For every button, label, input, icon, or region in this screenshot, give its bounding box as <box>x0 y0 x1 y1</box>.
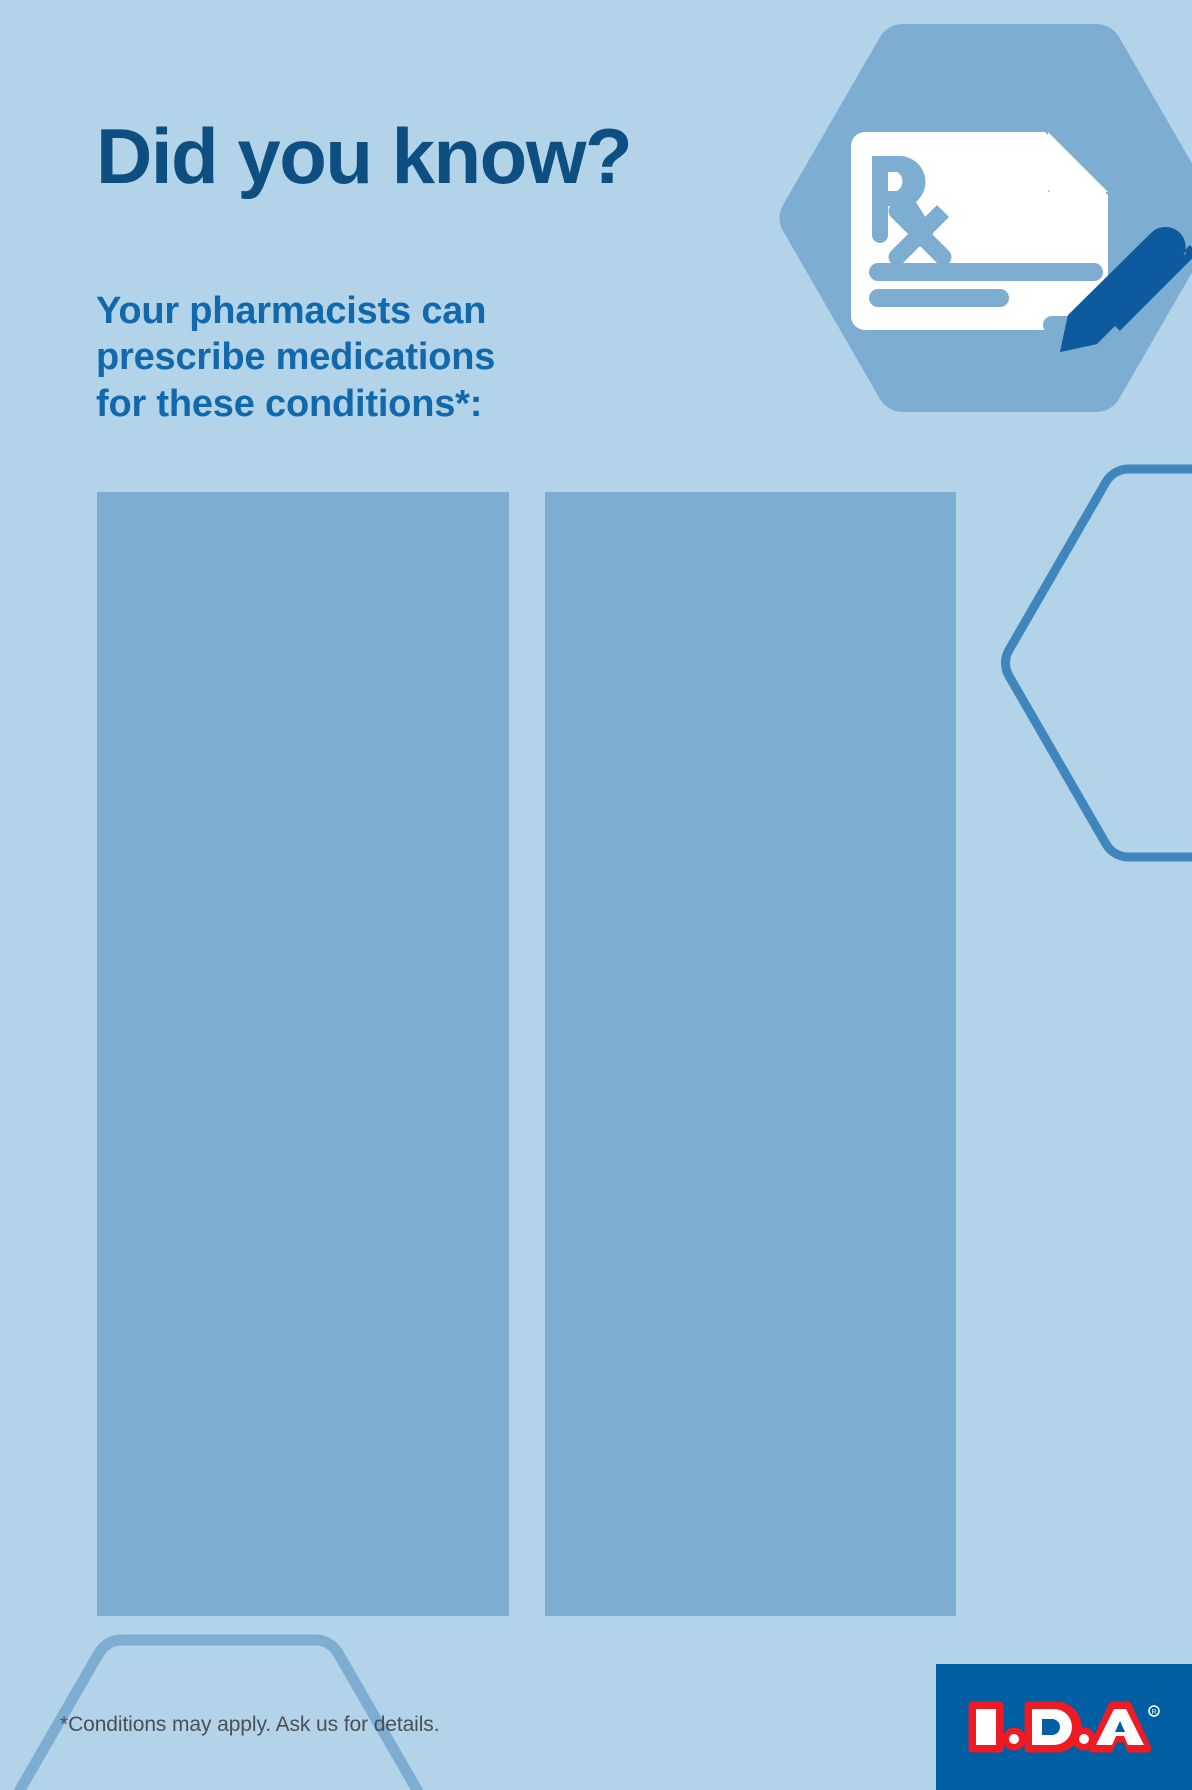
hexagon-solid-icon <box>780 24 1192 412</box>
subheadline-line-2: prescribe medications <box>96 334 656 380</box>
rx-letter-x <box>889 203 952 266</box>
registered-trademark-icon: R <box>1149 1706 1159 1716</box>
conditions-panel-right <box>545 492 956 1616</box>
footnote-disclaimer: *Conditions may apply. Ask us for detail… <box>60 1713 439 1737</box>
pencil-tip <box>1060 315 1097 352</box>
pencil-outline <box>1117 248 1192 328</box>
ida-logo-block: R <box>936 1664 1192 1790</box>
subheadline: Your pharmacists can prescribe medicatio… <box>96 288 656 427</box>
pencil-icon <box>1060 227 1186 352</box>
rx-rule-long <box>869 263 1103 281</box>
page-title: Did you know? <box>96 118 631 194</box>
hexagon-outline-icon <box>1006 469 1192 857</box>
subheadline-line-3: for these conditions*: <box>96 381 656 427</box>
ida-logo-icon: R <box>964 1695 1164 1759</box>
rx-letter-r <box>872 156 933 243</box>
poster-canvas: Did you know? Your pharmacists can presc… <box>0 0 1192 1790</box>
rx-rule-short <box>869 289 1009 307</box>
rx-paper-shape <box>851 132 1108 330</box>
rx-letter-x-2 <box>889 205 949 265</box>
conditions-panel-left <box>97 492 509 1616</box>
rx-signature-line <box>1043 316 1105 334</box>
svg-text:R: R <box>1151 1709 1156 1716</box>
subheadline-line-1: Your pharmacists can <box>96 288 656 334</box>
rx-paper-fold <box>1048 132 1108 192</box>
